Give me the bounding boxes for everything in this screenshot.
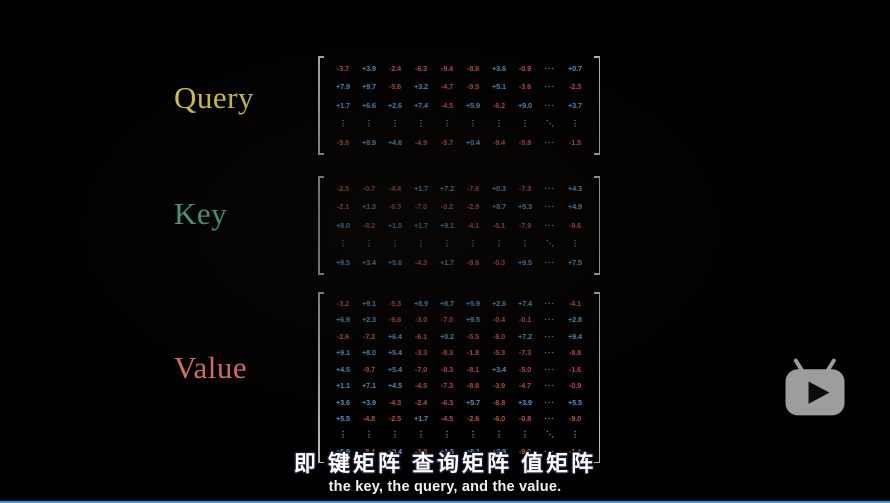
- matrix-cell: ⋮: [330, 431, 356, 439]
- bracket-right: [593, 56, 600, 155]
- matrix-cell: +0.4: [460, 139, 486, 146]
- matrix-cell: +5.1: [486, 83, 512, 90]
- matrix-cell: ···: [538, 448, 562, 455]
- matrix-cell: +9.1: [434, 222, 460, 229]
- matrix-cell: -9.2: [512, 448, 538, 455]
- matrix-cell: +5.6: [382, 259, 408, 266]
- matrix-cell: -5.8: [512, 139, 538, 146]
- matrix-cell: +8.5: [330, 259, 356, 266]
- matrix-cell: +5.9: [330, 448, 356, 455]
- matrix-cell: +5.7: [460, 399, 486, 406]
- matrix-cell: ⋮: [460, 240, 486, 248]
- matrix-cell: -4.3: [382, 399, 408, 406]
- matrix-cell: ⋮: [408, 240, 434, 248]
- matrix-cell: ⋱: [538, 240, 562, 248]
- matrix-cell: +9.5: [512, 259, 538, 266]
- matrix-cell: ···: [538, 83, 562, 90]
- matrix-cell: -2.3: [562, 83, 588, 90]
- matrix-cell: +3.7: [562, 102, 588, 109]
- matrix-cell: +4.5: [330, 366, 356, 373]
- matrix-cell: ⋮: [562, 240, 588, 248]
- video-frame: Query -3.7+3.9-2.4-6.3-9.4-8.6+3.6-0.9··…: [0, 0, 890, 503]
- matrix-cell: ···: [538, 399, 562, 406]
- matrix-cell: ···: [538, 349, 562, 356]
- query-matrix-grid: -3.7+3.9-2.4-6.3-9.4-8.6+3.6-0.9···+0.7+…: [325, 56, 593, 155]
- matrix-cell: ···: [538, 366, 562, 373]
- bracket-left: [318, 292, 325, 463]
- matrix-cell: +8.7: [434, 300, 460, 307]
- bracket-left: [318, 176, 325, 275]
- matrix-cell: +2.6: [486, 300, 512, 307]
- matrix-cell: +9.0: [512, 102, 538, 109]
- matrix-cell: -0.3: [486, 259, 512, 266]
- matrix-cell: +6.6: [356, 102, 382, 109]
- matrix-cell: -0.9: [562, 382, 588, 389]
- matrix-cell: +6.9: [330, 316, 356, 323]
- matrix-cell: ⋱: [538, 120, 562, 128]
- matrix-cell: +9.4: [562, 333, 588, 340]
- matrix-cell: -7.3: [512, 349, 538, 356]
- matrix-cell: +6.4: [382, 333, 408, 340]
- matrix-cell: +7.2: [434, 185, 460, 192]
- matrix-cell: -3.2: [330, 300, 356, 307]
- matrix-cell: ⋮: [486, 431, 512, 439]
- matrix-cell: -7.0: [408, 203, 434, 210]
- matrix-cell: +3.2: [408, 83, 434, 90]
- matrix-cell: +3.9: [512, 399, 538, 406]
- matrix-cell: +3.4: [486, 366, 512, 373]
- matrix-cell: +1.7: [408, 185, 434, 192]
- matrix-cell: -4.9: [408, 139, 434, 146]
- matrix-cell: +7.2: [512, 333, 538, 340]
- matrix-cell: ···: [538, 333, 562, 340]
- matrix-cell: ⋮: [486, 240, 512, 248]
- matrix-cell: +2.9: [486, 448, 512, 455]
- matrix-cell: -9.6: [562, 222, 588, 229]
- matrix-cell: ⋮: [562, 431, 588, 439]
- query-label: Query: [174, 82, 254, 113]
- matrix-cell: -6.1: [408, 333, 434, 340]
- value-label: Value: [174, 352, 247, 383]
- matrix-cell: +8.7: [486, 203, 512, 210]
- matrix-cell: +7.4: [408, 102, 434, 109]
- value-matrix: -3.2+9.1-5.3+8.9+8.7+5.9+2.6+7.4···-4.1+…: [318, 292, 600, 463]
- matrix-cell: +1.0: [382, 222, 408, 229]
- matrix-cell: -9.6: [382, 316, 408, 323]
- matrix-cell: ⋮: [356, 120, 382, 128]
- matrix-cell: ⋮: [562, 120, 588, 128]
- matrix-cell: +4.3: [562, 185, 588, 192]
- matrix-cell: -6.3: [408, 65, 434, 72]
- matrix-cell: -6.3: [382, 203, 408, 210]
- matrix-cell: ⋮: [330, 240, 356, 248]
- matrix-cell: -3.6: [512, 83, 538, 90]
- matrix-cell: ⋮: [408, 431, 434, 439]
- matrix-cell: +3.4: [356, 259, 382, 266]
- matrix-cell: -4.5: [434, 102, 460, 109]
- matrix-cell: +2.8: [562, 316, 588, 323]
- matrix-cell: ⋮: [460, 431, 486, 439]
- matrix-cell: -7.6: [460, 185, 486, 192]
- bracket-right: [593, 292, 600, 463]
- matrix-cell: -4.7: [512, 382, 538, 389]
- matrix-cell: +0.7: [562, 65, 588, 72]
- matrix-cell: ⋮: [512, 240, 538, 248]
- matrix-cell: -7.2: [356, 333, 382, 340]
- matrix-cell: -5.5: [460, 333, 486, 340]
- matrix-cell: ⋮: [512, 431, 538, 439]
- subtitle-english: the key, the query, and the value.: [0, 479, 890, 495]
- matrix-cell: ···: [538, 139, 562, 146]
- matrix-cell: -7.0: [408, 366, 434, 373]
- matrix-cell: +7.5: [562, 259, 588, 266]
- matrix-cell: +1.7: [408, 222, 434, 229]
- matrix-cell: +9.5: [460, 316, 486, 323]
- matrix-cell: -5.0: [512, 366, 538, 373]
- matrix-cell: -2.4: [382, 65, 408, 72]
- key-label: Key: [174, 198, 227, 229]
- matrix-cell: ···: [538, 259, 562, 266]
- matrix-cell: ···: [538, 300, 562, 307]
- key-matrix-grid: -2.5-0.7-4.4+1.7+7.2-7.6+0.3-7.3···+4.3-…: [325, 176, 593, 275]
- matrix-cell: +1.7: [330, 102, 356, 109]
- query-matrix: -3.7+3.9-2.4-6.3-9.4-8.6+3.6-0.9···+0.7+…: [318, 56, 600, 155]
- matrix-cell: +5.3: [512, 203, 538, 210]
- matrix-cell: ⋮: [382, 431, 408, 439]
- matrix-cell: ···: [538, 102, 562, 109]
- matrix-cell: ⋮: [330, 120, 356, 128]
- matrix-cell: -8.8: [562, 349, 588, 356]
- matrix-cell: ···: [538, 65, 562, 72]
- matrix-cell: +4.9: [562, 203, 588, 210]
- matrix-cell: ⋮: [408, 120, 434, 128]
- matrix-cell: -4.3: [408, 259, 434, 266]
- matrix-cell: -8.2: [356, 222, 382, 229]
- matrix-cell: +9.7: [356, 83, 382, 90]
- matrix-cell: -6.2: [486, 102, 512, 109]
- matrix-cell: +2.3: [356, 316, 382, 323]
- matrix-cell: ···: [538, 185, 562, 192]
- value-matrix-grid: -3.2+9.1-5.3+8.9+8.7+5.9+2.6+7.4···-4.1+…: [325, 292, 593, 463]
- matrix-cell: -8.3: [434, 349, 460, 356]
- matrix-cell: +7.1: [356, 382, 382, 389]
- matrix-cell: -0.1: [512, 316, 538, 323]
- matrix-cell: -3.9: [486, 382, 512, 389]
- matrix-cell: +8.0: [330, 222, 356, 229]
- matrix-cell: ⋮: [460, 120, 486, 128]
- matrix-cell: -1.5: [562, 139, 588, 146]
- matrix-cell: ⋮: [434, 120, 460, 128]
- matrix-cell: -2.6: [460, 415, 486, 422]
- matrix-cell: ⋱: [538, 431, 562, 439]
- matrix-cell: +0.3: [486, 185, 512, 192]
- matrix-cell: -4.1: [460, 222, 486, 229]
- matrix-cell: +9.1: [330, 349, 356, 356]
- matrix-cell: +1.1: [330, 382, 356, 389]
- matrix-cell: +1.7: [434, 259, 460, 266]
- matrix-cell: ⋮: [382, 120, 408, 128]
- matrix-cell: +1.5: [434, 448, 460, 455]
- matrix-cell: -8.3: [434, 366, 460, 373]
- bracket-right: [593, 176, 600, 275]
- matrix-cell: -3.0: [408, 316, 434, 323]
- matrix-cell: +1.7: [408, 415, 434, 422]
- matrix-cell: +3.6: [486, 65, 512, 72]
- matrix-cell: -8.0: [486, 333, 512, 340]
- matrix-cell: -1.4: [562, 448, 588, 455]
- matrix-cell: +5.5: [562, 399, 588, 406]
- matrix-cell: +8.0: [356, 349, 382, 356]
- matrix-cell: -2.5: [382, 415, 408, 422]
- matrix-cell: -9.0: [562, 415, 588, 422]
- matrix-cell: -2.9: [460, 203, 486, 210]
- matrix-cell: -1.8: [460, 349, 486, 356]
- matrix-cell: -7.3: [434, 382, 460, 389]
- matrix-cell: -6.3: [434, 399, 460, 406]
- matrix-cell: -0.7: [356, 185, 382, 192]
- matrix-cell: +5.9: [460, 102, 486, 109]
- matrix-cell: -2.4: [408, 399, 434, 406]
- matrix-cell: -3.8: [408, 448, 434, 455]
- matrix-cell: -3.7: [330, 65, 356, 72]
- matrix-cell: ⋮: [512, 120, 538, 128]
- matrix-cell: -5.6: [330, 139, 356, 146]
- matrix-cell: -4.1: [562, 300, 588, 307]
- matrix-cell: -8.6: [460, 259, 486, 266]
- tv-play-icon: [779, 352, 851, 424]
- bracket-left: [318, 56, 325, 155]
- matrix-cell: -2.1: [330, 203, 356, 210]
- key-matrix: -2.5-0.7-4.4+1.7+7.2-7.6+0.3-7.3···+4.3-…: [318, 176, 600, 275]
- matrix-cell: -7.3: [512, 185, 538, 192]
- matrix-cell: ⋮: [356, 431, 382, 439]
- matrix-cell: -4.5: [434, 415, 460, 422]
- matrix-cell: +5.4: [382, 349, 408, 356]
- matrix-cell: -4.7: [434, 83, 460, 90]
- matrix-cell: -0.4: [486, 316, 512, 323]
- matrix-cell: -9.5: [460, 83, 486, 90]
- matrix-cell: -9.4: [434, 65, 460, 72]
- matrix-cell: -8.1: [460, 366, 486, 373]
- matrix-cell: +4.6: [382, 139, 408, 146]
- matrix-cell: ⋮: [434, 240, 460, 248]
- matrix-cell: +3.6: [330, 399, 356, 406]
- matrix-cell: +9.1: [356, 300, 382, 307]
- matrix-cell: ⋮: [486, 120, 512, 128]
- matrix-cell: +5.9: [460, 300, 486, 307]
- matrix-cell: -4.5: [408, 382, 434, 389]
- matrix-cell: ···: [538, 415, 562, 422]
- matrix-cell: -2.5: [330, 185, 356, 192]
- matrix-cell: -4.4: [382, 185, 408, 192]
- matrix-cell: ···: [538, 203, 562, 210]
- matrix-cell: -1.6: [562, 366, 588, 373]
- matrix-cell: ⋮: [356, 240, 382, 248]
- matrix-cell: +9.1: [460, 448, 486, 455]
- matrix-cell: -5.3: [486, 349, 512, 356]
- matrix-cell: +8.9: [356, 139, 382, 146]
- matrix-cell: ···: [538, 222, 562, 229]
- matrix-cell: ···: [538, 382, 562, 389]
- matrix-cell: -6.0: [486, 415, 512, 422]
- matrix-cell: -9.7: [356, 366, 382, 373]
- matrix-cell: -9.4: [486, 139, 512, 146]
- matrix-cell: -8.6: [460, 65, 486, 72]
- matrix-cell: -4.8: [356, 415, 382, 422]
- matrix-cell: ···: [538, 316, 562, 323]
- matrix-cell: -5.3: [382, 300, 408, 307]
- matrix-cell: -2.6: [330, 333, 356, 340]
- matrix-cell: +0.4: [382, 448, 408, 455]
- matrix-cell: +0.2: [434, 333, 460, 340]
- matrix-cell: +8.9: [408, 300, 434, 307]
- matrix-cell: +5.5: [330, 415, 356, 422]
- matrix-cell: +1.3: [356, 203, 382, 210]
- matrix-cell: -5.6: [382, 83, 408, 90]
- matrix-cell: +7.9: [330, 83, 356, 90]
- matrix-cell: -0.9: [512, 65, 538, 72]
- matrix-cell: +3.9: [356, 399, 382, 406]
- matrix-cell: -0.8: [512, 415, 538, 422]
- matrix-cell: ⋮: [434, 431, 460, 439]
- matrix-cell: -7.9: [512, 222, 538, 229]
- matrix-cell: -7.0: [434, 316, 460, 323]
- matrix-cell: +2.6: [382, 102, 408, 109]
- matrix-cell: ⋮: [382, 240, 408, 248]
- matrix-cell: -0.2: [434, 203, 460, 210]
- matrix-cell: +4.5: [382, 382, 408, 389]
- matrix-cell: -5.7: [434, 139, 460, 146]
- matrix-cell: +7.4: [512, 300, 538, 307]
- matrix-cell: -5.1: [486, 222, 512, 229]
- matrix-cell: -8.4: [356, 448, 382, 455]
- matrix-cell: +5.4: [382, 366, 408, 373]
- matrix-cell: -3.3: [408, 349, 434, 356]
- matrix-cell: -8.8: [486, 399, 512, 406]
- matrix-cell: +3.9: [356, 65, 382, 72]
- matrix-cell: -8.8: [460, 382, 486, 389]
